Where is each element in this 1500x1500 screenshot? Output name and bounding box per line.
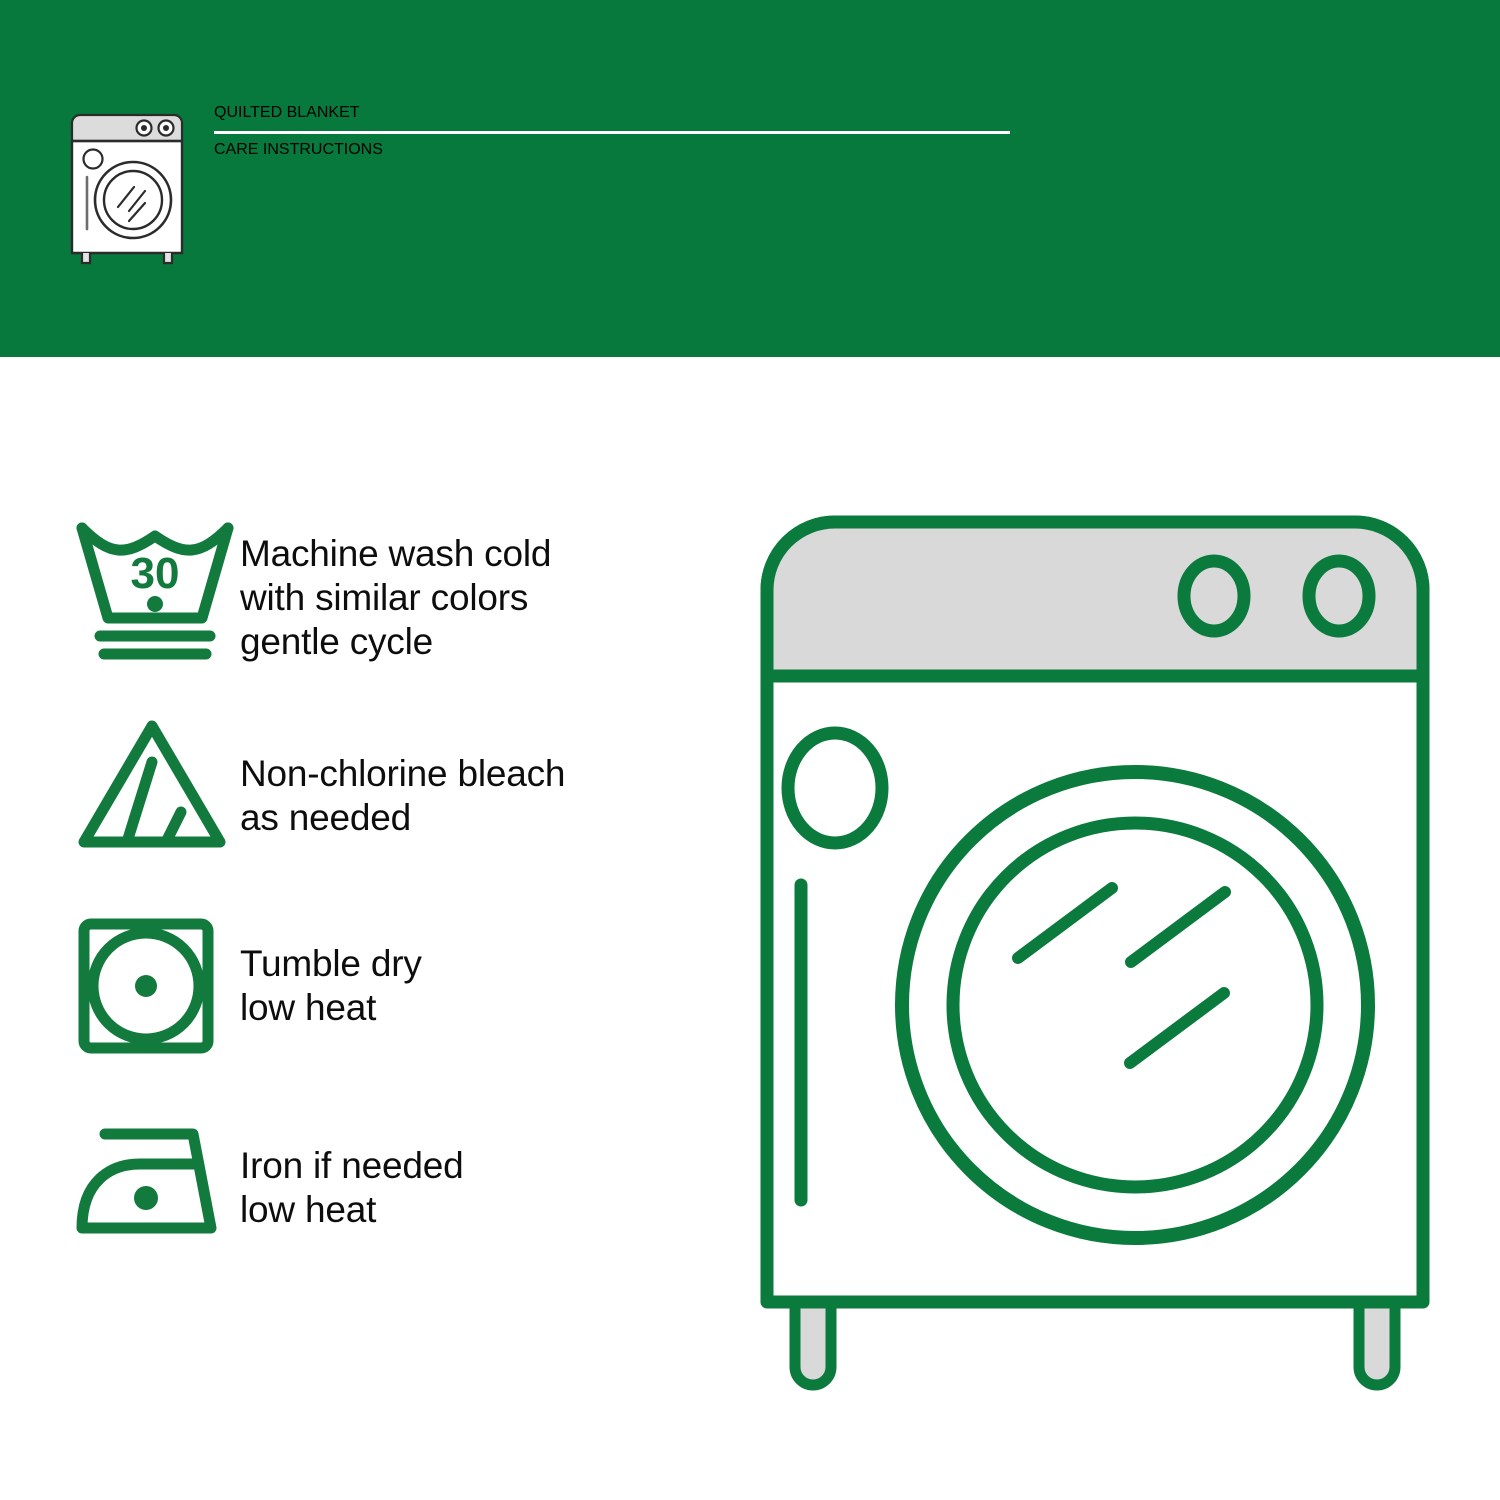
header-divider [214,131,1010,134]
care-text-iron: Iron if needed low heat [240,1112,710,1232]
header-bar: QUILTED BLANKET CARE INSTRUCTIONS [0,0,1500,357]
care-row-bleach: Non-chlorine bleach as needed [70,712,710,912]
care-text-wash: Machine wash cold with similar colors ge… [240,512,710,664]
knob-right [1309,561,1369,631]
iron-low-heat-icon [70,1112,240,1262]
non-chlorine-bleach-triangle-icon [70,712,240,862]
front-load-washing-machine-illustration [745,500,1445,1410]
detergent-dispenser-circle [788,733,882,843]
care-row-wash: 30 Machine wash cold with similar colors… [70,512,710,712]
wash-temperature-label: 30 [131,549,180,598]
tumble-dry-low-heat-icon [70,912,240,1062]
care-text-bleach: Non-chlorine bleach as needed [240,712,710,840]
care-instructions-page: QUILTED BLANKET CARE INSTRUCTIONS 30 [0,0,1500,1500]
care-instruction-list: 30 Machine wash cold with similar colors… [70,512,710,1312]
care-row-tumble-dry: Tumble dry low heat [70,912,710,1112]
care-row-iron: Iron if needed low heat [70,1112,710,1312]
wash-tub-30-gentle-icon: 30 [70,512,240,662]
header-text-block: QUILTED BLANKET CARE INSTRUCTIONS [214,104,1014,159]
care-text-tumble-dry: Tumble dry low heat [240,912,710,1030]
page-subtitle: CARE INSTRUCTIONS [214,141,1014,159]
knob-left [1184,561,1244,631]
washing-machine-icon [66,107,196,265]
page-title: QUILTED BLANKET [214,104,1014,122]
